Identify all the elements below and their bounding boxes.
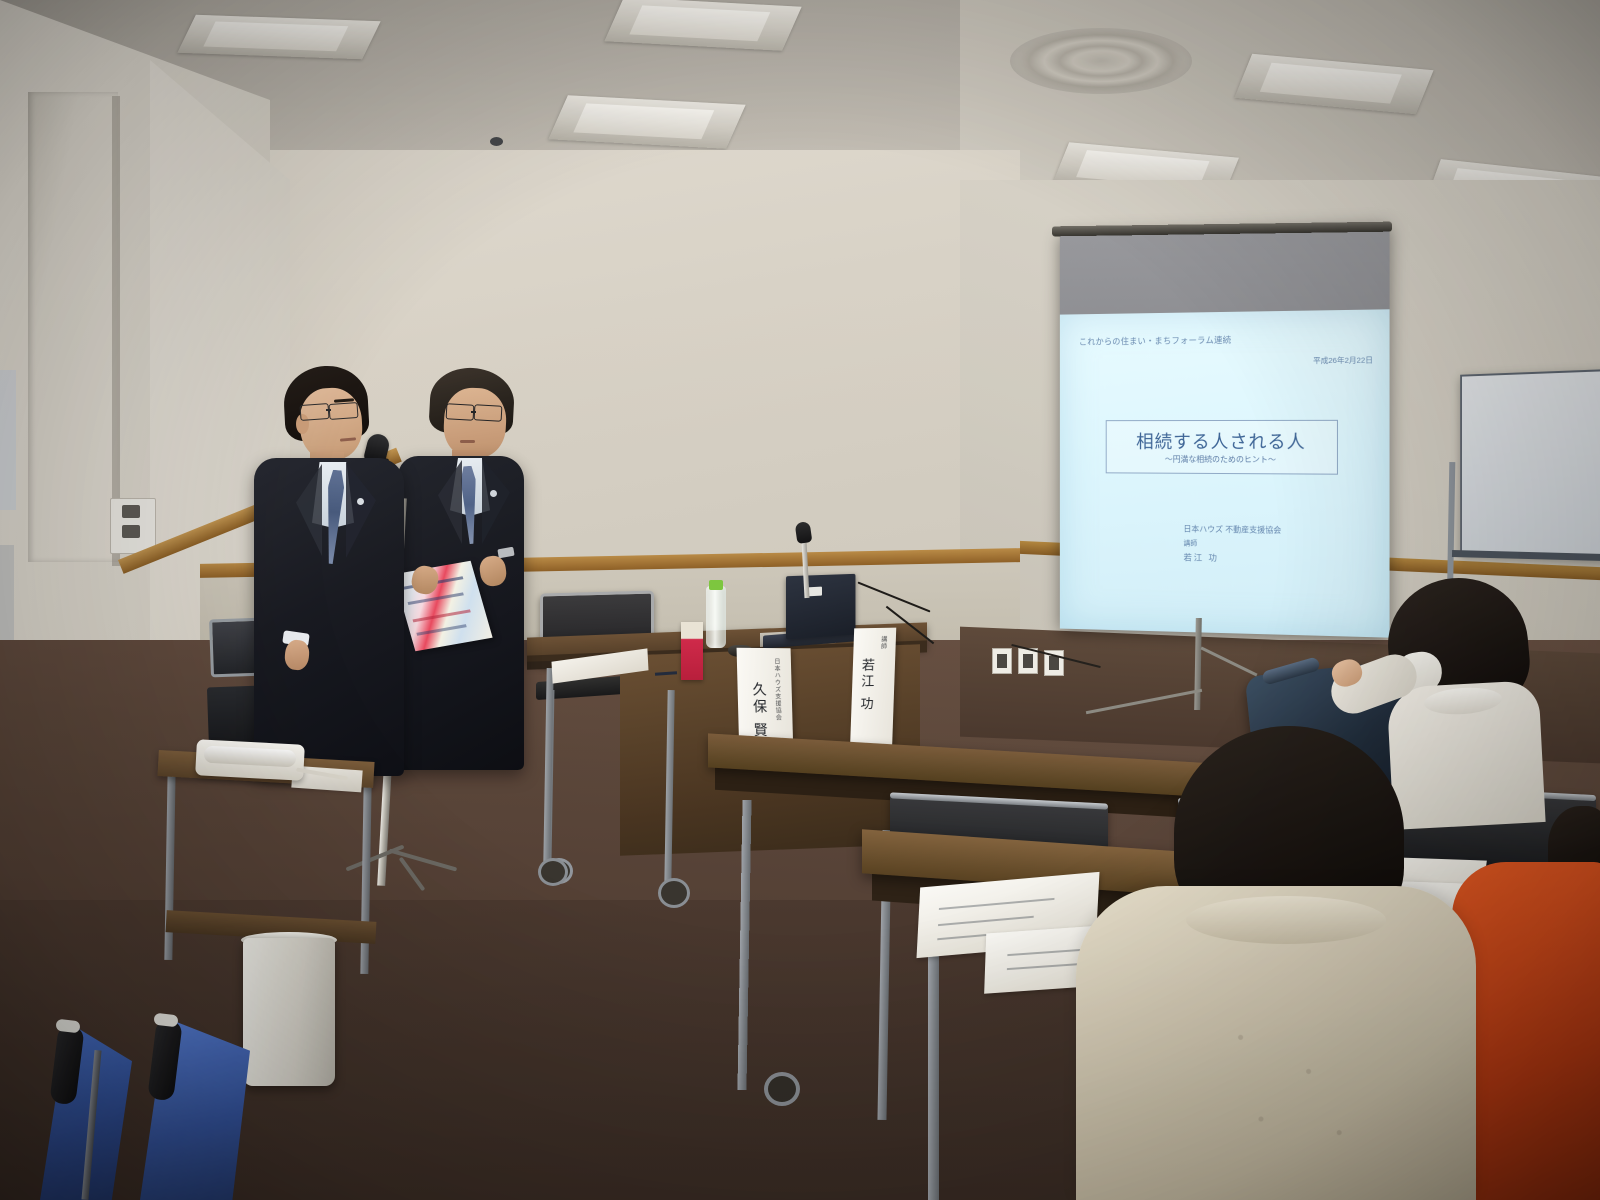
laptop-screen[interactable] xyxy=(786,574,855,640)
glasses-icon xyxy=(474,404,503,421)
placard-name: 久保 賢 xyxy=(749,682,771,740)
slide-role: 講師 xyxy=(1183,538,1197,548)
photo-scene: これからの住まい・まちフォーラム連続 平成26年2月22日 相続する人される人 … xyxy=(0,0,1600,1200)
speaker-right-face xyxy=(442,386,508,459)
attendee-front-center-collar xyxy=(1186,896,1386,944)
ceiling-light-fixture xyxy=(177,15,380,60)
slide-title-box: 相続する人される人 ～円満な相続のためのヒント～ xyxy=(1106,420,1338,475)
smoke-detector-icon xyxy=(490,137,503,146)
slide-organization: 日本ハウズ 不動産支援協会 xyxy=(1183,524,1281,536)
glasses-bridge xyxy=(326,409,331,411)
water-bottle[interactable] xyxy=(706,586,726,648)
projection-screen: これからの住まい・まちフォーラム連続 平成26年2月22日 相続する人される人 … xyxy=(1060,223,1390,637)
placard-role: 日本ハウズ支援協会 xyxy=(772,658,783,721)
desk-caster xyxy=(658,878,690,908)
brochure-line xyxy=(413,609,471,622)
table-leg xyxy=(928,920,939,1200)
glasses-icon xyxy=(299,403,329,421)
door-jamb xyxy=(112,96,120,566)
glasses-bridge xyxy=(471,411,476,413)
desk-caster xyxy=(538,858,568,886)
slide-date: 平成26年2月22日 xyxy=(1313,354,1373,366)
lapel-pin xyxy=(490,490,497,497)
slide-header: これからの住まい・まちフォーラム連続 xyxy=(1079,334,1231,348)
wall-notice xyxy=(0,370,16,510)
placard-name: 若江 功 xyxy=(856,658,877,713)
lapel-pin xyxy=(357,498,364,505)
jacket-pattern xyxy=(1210,1000,1380,1170)
ceiling-light-fixture xyxy=(548,95,745,149)
slide-title: 相続する人される人 xyxy=(1107,428,1337,454)
ceiling-air-vent xyxy=(1010,28,1192,94)
wall-switch-plate[interactable] xyxy=(110,498,156,554)
projected-slide: これからの住まい・まちフォーラム連続 平成26年2月22日 相続する人される人 … xyxy=(1060,309,1390,637)
whiteboard[interactable] xyxy=(1460,369,1600,561)
speaker-right-mouth xyxy=(460,440,475,443)
screen-blank-band xyxy=(1060,223,1390,314)
brochure-line xyxy=(416,624,466,636)
brochure-line xyxy=(408,592,464,605)
slide-subtitle: ～円満な相続のためのヒント～ xyxy=(1107,454,1337,466)
slide-presenter: 若江 功 xyxy=(1183,551,1218,564)
power-outlet[interactable] xyxy=(992,648,1012,674)
waste-bin[interactable] xyxy=(243,938,335,1086)
tissue-box[interactable] xyxy=(681,622,703,680)
bottle-cap xyxy=(709,580,723,590)
placard-role: 講師 xyxy=(878,636,887,650)
glasses-icon xyxy=(328,402,358,420)
doorway[interactable] xyxy=(28,92,118,562)
table-caster xyxy=(764,1072,800,1106)
name-placard: 講師 若江 功 xyxy=(850,628,897,757)
